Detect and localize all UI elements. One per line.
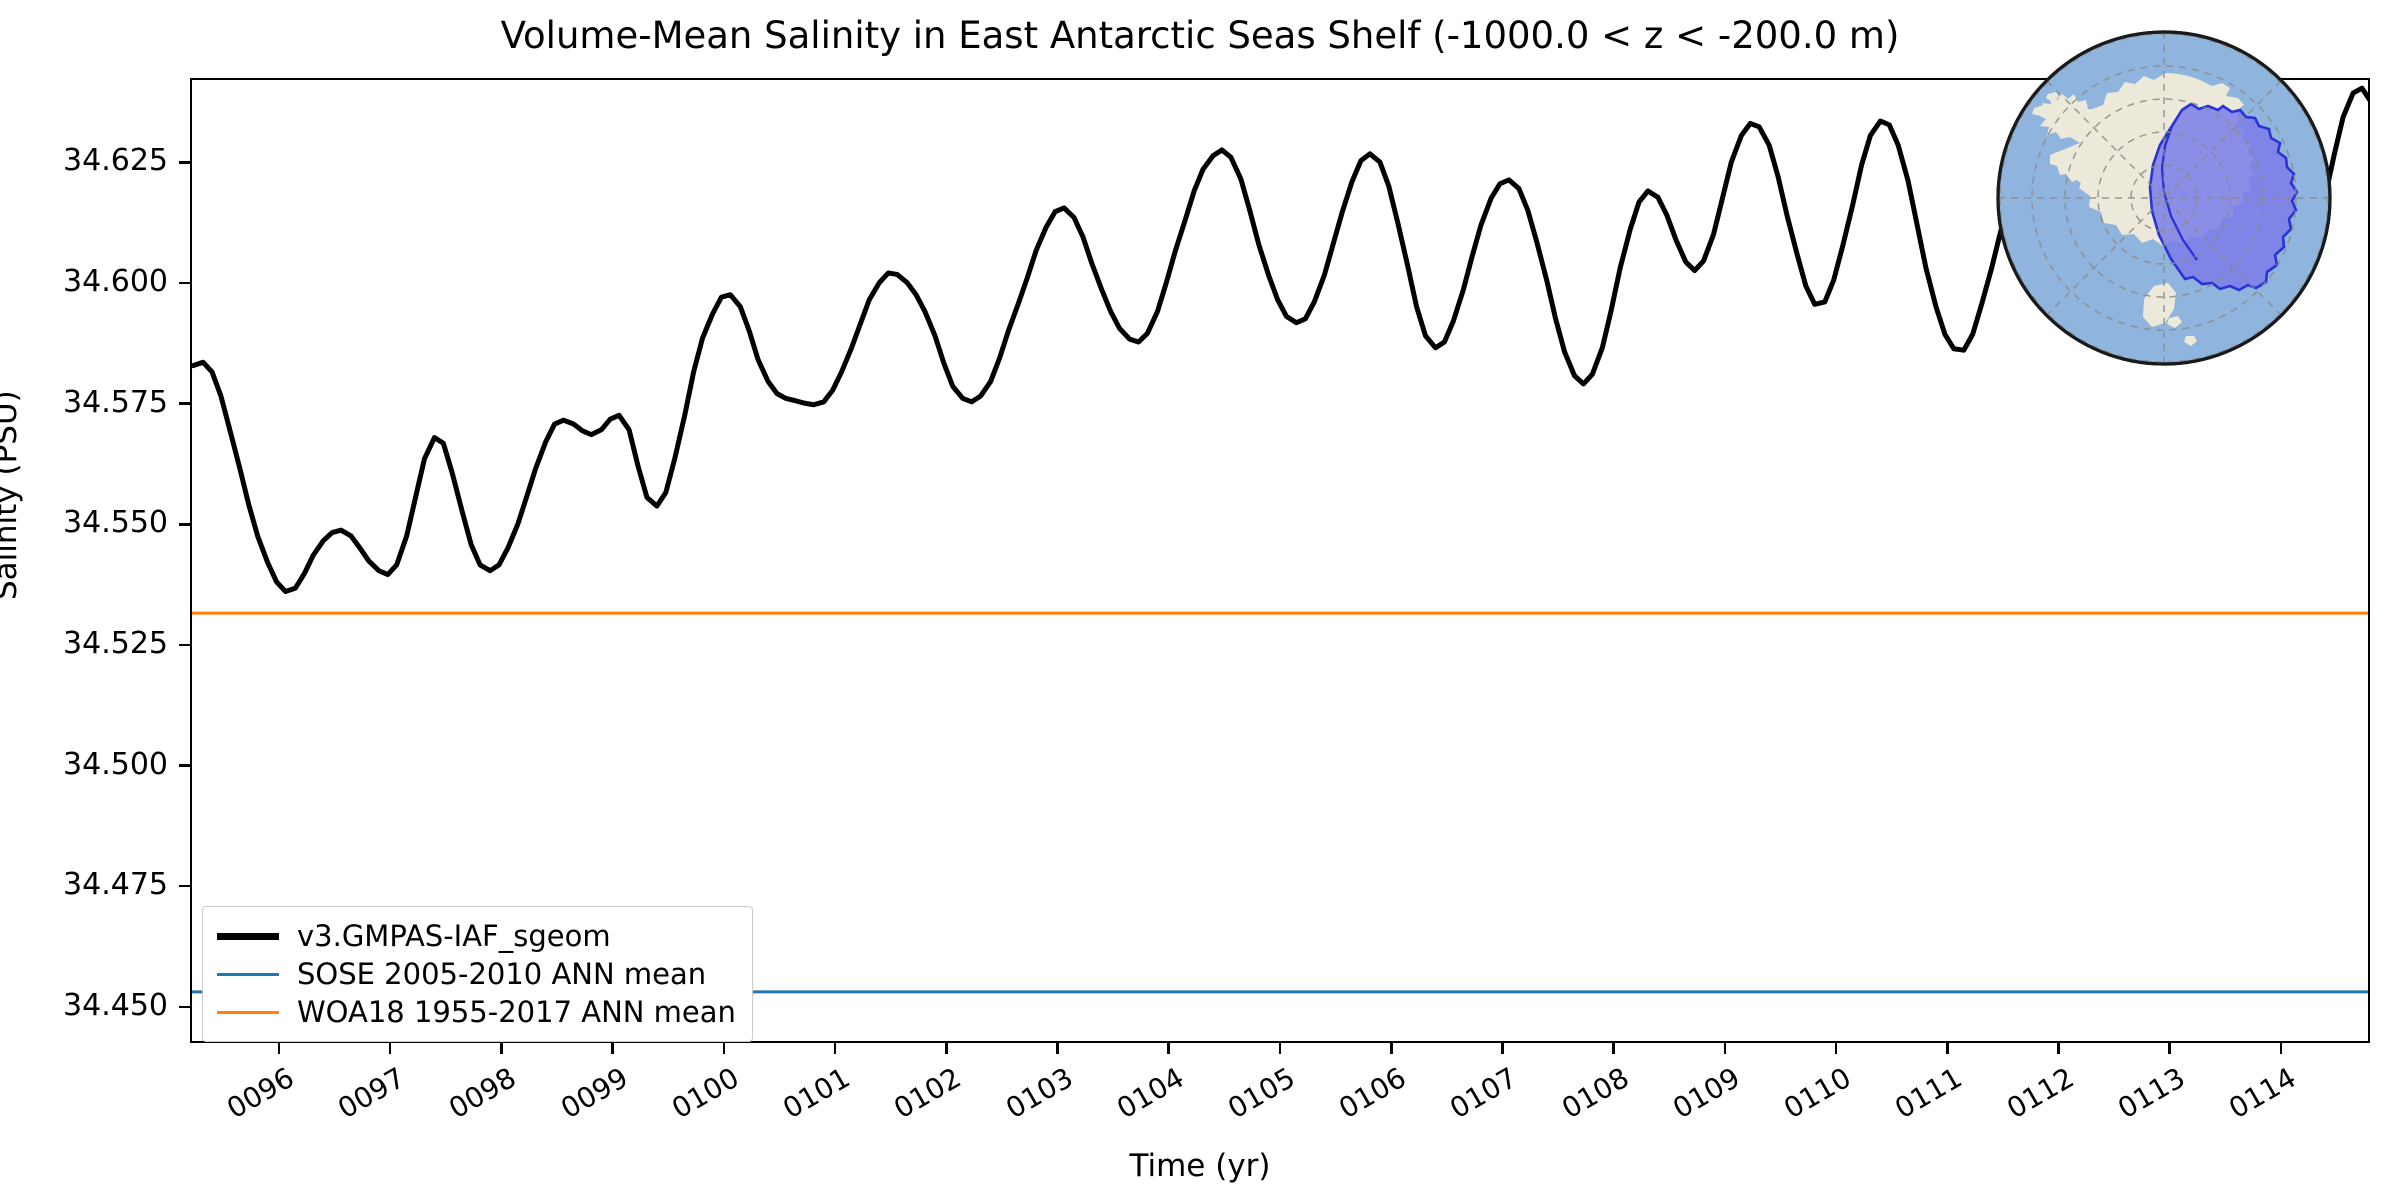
x-tick-mark — [500, 1043, 503, 1054]
x-tick-mark — [278, 1043, 281, 1054]
y-tick-label: 34.550 — [0, 505, 168, 540]
x-tick-label: 0102 — [883, 1061, 967, 1129]
x-tick-mark — [611, 1043, 614, 1054]
x-tick-label: 0106 — [1328, 1061, 1412, 1129]
x-tick-label: 0097 — [327, 1061, 411, 1129]
figure-canvas: Volume-Mean Salinity in East Antarctic S… — [0, 0, 2400, 1200]
legend-swatch-model — [217, 933, 279, 940]
x-tick-mark — [1167, 1043, 1170, 1054]
y-tick-mark — [179, 644, 190, 647]
x-tick-mark — [2280, 1043, 2283, 1054]
x-tick-label: 0111 — [1884, 1061, 1968, 1129]
y-tick-label: 34.600 — [0, 264, 168, 299]
antarctic-inset-map — [1968, 18, 2360, 378]
y-tick-label: 34.475 — [0, 867, 168, 902]
y-tick-label: 34.500 — [0, 747, 168, 782]
x-tick-mark — [1390, 1043, 1393, 1054]
x-tick-label: 0099 — [549, 1061, 633, 1129]
y-tick-mark — [179, 282, 190, 285]
y-tick-mark — [179, 1006, 190, 1009]
x-tick-mark — [945, 1043, 948, 1054]
x-tick-label: 0100 — [660, 1061, 744, 1129]
x-tick-mark — [1501, 1043, 1504, 1054]
legend-label-sose: SOSE 2005-2010 ANN mean — [297, 960, 706, 989]
x-axis-label: Time (yr) — [0, 1148, 2400, 1184]
x-tick-mark — [723, 1043, 726, 1054]
x-tick-mark — [1724, 1043, 1727, 1054]
legend-item-sose[interactable]: SOSE 2005-2010 ANN mean — [217, 955, 736, 993]
x-tick-mark — [1612, 1043, 1615, 1054]
x-tick-label: 0108 — [1550, 1061, 1634, 1129]
y-tick-mark — [179, 885, 190, 888]
y-tick-label: 34.525 — [0, 626, 168, 661]
legend-label-model: v3.GMPAS-IAF_sgeom — [297, 922, 611, 951]
y-axis-label: Salinity (PSU) — [0, 390, 24, 600]
x-tick-label: 0114 — [2217, 1061, 2301, 1129]
x-tick-label: 0110 — [1773, 1061, 1857, 1129]
x-tick-mark — [2168, 1043, 2171, 1054]
x-tick-label: 0113 — [2106, 1061, 2190, 1129]
legend-item-woa18[interactable]: WOA18 1955-2017 ANN mean — [217, 993, 736, 1031]
x-tick-label: 0101 — [772, 1061, 856, 1129]
legend-item-model[interactable]: v3.GMPAS-IAF_sgeom — [217, 917, 736, 955]
island-group-3 — [2026, 79, 2037, 88]
x-tick-label: 0104 — [1105, 1061, 1189, 1129]
y-tick-label: 34.575 — [0, 385, 168, 420]
x-tick-label: 0112 — [1995, 1061, 2079, 1129]
y-tick-mark — [179, 161, 190, 164]
y-tick-mark — [179, 402, 190, 405]
legend-swatch-sose — [217, 973, 279, 976]
inset-map-svg — [1968, 18, 2360, 378]
x-tick-label: 0105 — [1216, 1061, 1300, 1129]
x-tick-label: 0109 — [1661, 1061, 1745, 1129]
y-tick-label: 34.625 — [0, 143, 168, 178]
x-tick-mark — [1835, 1043, 1838, 1054]
x-tick-label: 0096 — [215, 1061, 299, 1129]
y-tick-label: 34.450 — [0, 988, 168, 1023]
x-tick-mark — [834, 1043, 837, 1054]
x-tick-mark — [1056, 1043, 1059, 1054]
x-tick-mark — [389, 1043, 392, 1054]
y-tick-mark — [179, 764, 190, 767]
y-tick-mark — [179, 523, 190, 526]
x-tick-label: 0103 — [994, 1061, 1078, 1129]
chart-legend[interactable]: v3.GMPAS-IAF_sgeom SOSE 2005-2010 ANN me… — [202, 906, 753, 1042]
x-tick-mark — [1279, 1043, 1282, 1054]
x-tick-label: 0107 — [1439, 1061, 1523, 1129]
legend-swatch-woa18 — [217, 1011, 279, 1014]
legend-label-woa18: WOA18 1955-2017 ANN mean — [297, 998, 736, 1027]
x-tick-mark — [2057, 1043, 2060, 1054]
x-tick-mark — [1946, 1043, 1949, 1054]
x-tick-label: 0098 — [438, 1061, 522, 1129]
